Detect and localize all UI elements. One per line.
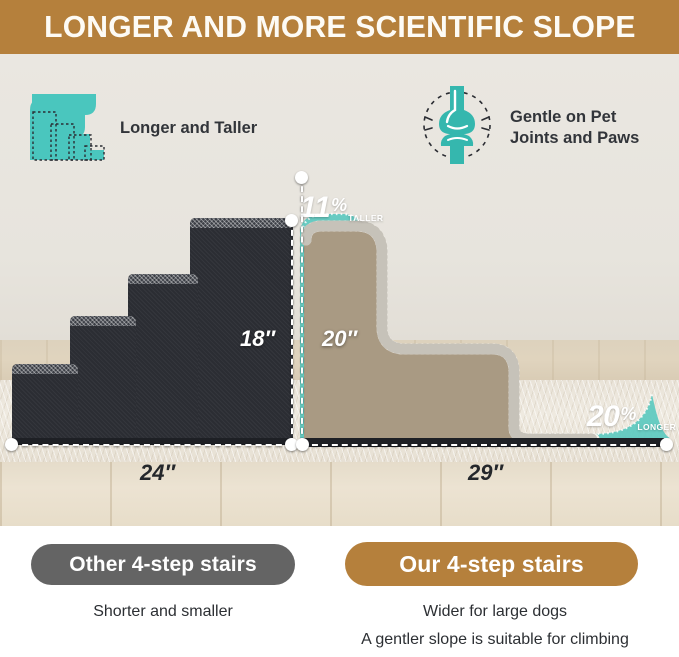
caption-line: Shorter and smaller: [31, 598, 295, 626]
our-stairs-shape: [292, 172, 679, 450]
ours-height-label: 20″: [322, 326, 357, 352]
measure-line-ours-width: [302, 444, 666, 446]
stairs-icon: [28, 90, 106, 167]
measure-line-ours-height: [301, 176, 303, 444]
stair-step-2-riser: [70, 326, 136, 444]
caption-line: A gentler slope is suitable for climbing: [330, 626, 660, 654]
measure-dot: [296, 438, 309, 451]
product-comparison-scene: Longer and Taller: [0, 54, 679, 526]
other-stairs-pill-label: Other 4-step stairs: [69, 553, 256, 577]
measure-dot: [660, 438, 673, 451]
stair-step-3-riser: [128, 284, 198, 444]
our-stairs-pill: Our 4-step stairs: [345, 542, 638, 586]
measure-line-other-width: [12, 444, 292, 446]
feature-label: Longer and Taller: [120, 118, 257, 139]
our-stairs-pill-label: Our 4-step stairs: [399, 551, 584, 578]
caption-line: Wider for large dogs: [330, 598, 660, 626]
pet-joint-icon: [418, 84, 496, 171]
header-banner: LONGER AND MORE SCIENTIFIC SLOPE: [0, 0, 679, 54]
other-width-label: 24″: [140, 460, 175, 486]
stair-step-1-riser: [12, 374, 78, 444]
measure-dot: [295, 171, 308, 184]
background-wood-planks: [0, 462, 679, 526]
measure-dot: [285, 214, 298, 227]
measure-dot: [5, 438, 18, 451]
our-stairs-caption: Wider for large dogs A gentler slope is …: [330, 598, 660, 654]
feature-longer-taller: Longer and Taller: [28, 90, 257, 167]
captions-section: Other 4-step stairs Our 4-step stairs Sh…: [0, 526, 679, 657]
our-stairs-product: [292, 172, 679, 450]
other-stairs-caption: Shorter and smaller: [31, 598, 295, 626]
feature-label: Gentle on Pet Joints and Paws: [510, 107, 639, 148]
measure-line-other-height: [291, 220, 293, 444]
other-stairs-pill: Other 4-step stairs: [31, 544, 295, 585]
ours-width-label: 29″: [468, 460, 503, 486]
stair-step-1: [12, 364, 78, 444]
page-title: LONGER AND MORE SCIENTIFIC SLOPE: [44, 9, 635, 45]
stair-step-3: [128, 274, 198, 444]
other-height-label: 18″: [240, 326, 275, 352]
stair-step-2: [70, 316, 136, 444]
infographic-page: LONGER AND MORE SCIENTIFIC SLOPE: [0, 0, 679, 657]
feature-gentle-on-joints: Gentle on Pet Joints and Paws: [418, 84, 639, 171]
